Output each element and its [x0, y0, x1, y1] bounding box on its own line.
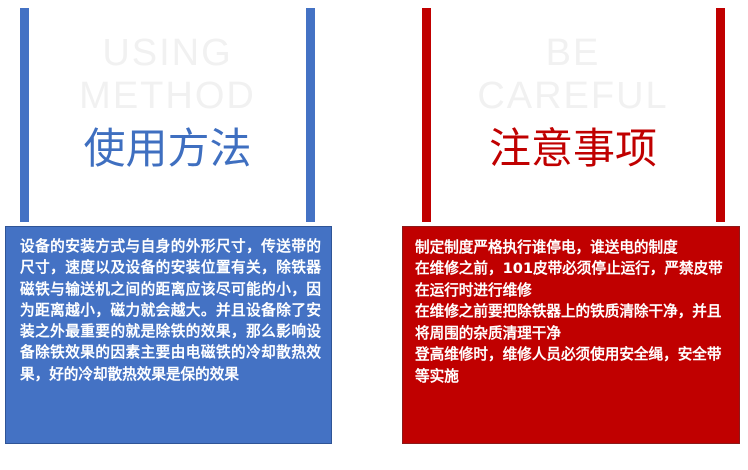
watermark-text-be-careful: BE CAREFUL [422, 32, 724, 117]
heading-using-method: 使用方法 [20, 128, 315, 170]
panel-using-method: USING METHOD 使用方法 设备的安装方式与自身的外形尺寸，传送带的尺寸… [0, 0, 374, 470]
watermark-text-using-method: USING METHOD [20, 32, 315, 117]
heading-be-careful: 注意事项 [422, 128, 724, 170]
callout-box-be-careful: 制定制度严格执行谁停电，谁送电的制度 在维修之前，101皮带必须停止运行，严禁皮… [402, 226, 740, 444]
callout-box-using-method: 设备的安装方式与自身的外形尺寸，传送带的尺寸，速度以及设备的安装位置有关，除铁器… [5, 226, 332, 444]
slide-canvas: USING METHOD 使用方法 设备的安装方式与自身的外形尺寸，传送带的尺寸… [0, 0, 748, 470]
